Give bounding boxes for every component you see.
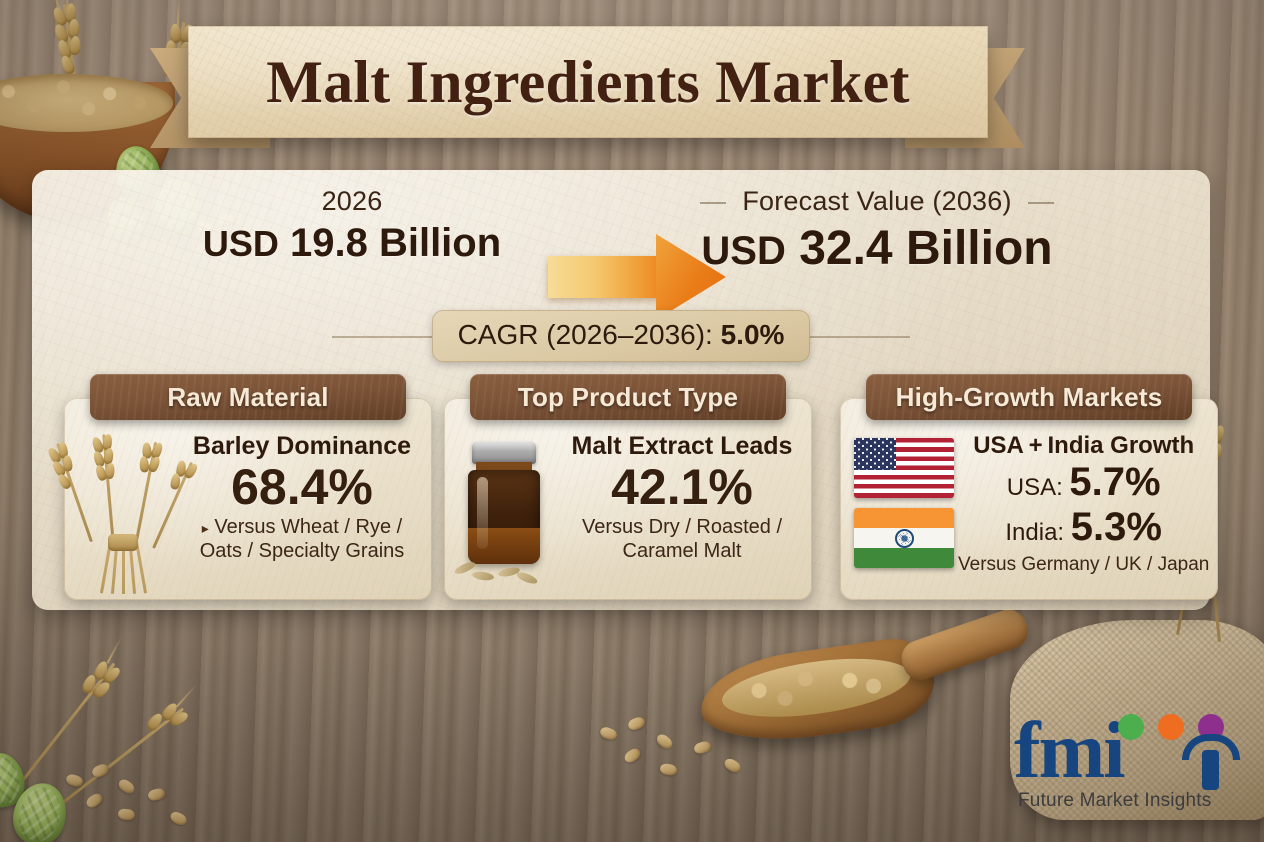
forecast-currency: USD [701, 229, 785, 273]
row-usa-label: USA: [1007, 474, 1070, 501]
row-india-value: 5.3% [1071, 505, 1162, 549]
row-usa-growth: USA: 5.7% [958, 460, 1209, 505]
card-raw-material[interactable]: Raw Material [64, 398, 432, 600]
row-india-label: India: [1005, 519, 1070, 546]
card-top-product-type-note-line2: Caramel Malt [623, 540, 742, 562]
wheat-sheaf-icon [64, 432, 184, 594]
card-high-growth-markets-heading: High-Growth Markets [866, 374, 1192, 420]
usa-flag-icon [854, 438, 954, 498]
market-flags [840, 432, 958, 594]
card-raw-material-metric-title: Barley Dominance [184, 432, 420, 461]
card-top-product-type[interactable]: Top Product Type [444, 398, 812, 600]
infographic-canvas: Malt Ingredients Market 2026 USD 19.8 Bi… [0, 0, 1264, 842]
stat-cards: Raw Material [32, 370, 1210, 600]
forecast-number: 32.4 Billion [799, 222, 1052, 275]
row-usa-value: 5.7% [1069, 460, 1160, 504]
fmi-wordmark: fmi [1014, 712, 1124, 790]
malt-extract-jar-icon [444, 432, 564, 594]
forecast-label: Forecast Value (2036) [706, 186, 1047, 217]
logo-person-icon [1182, 734, 1240, 788]
main-panel: 2026 USD 19.8 Billion Forecast Value (20… [32, 170, 1210, 610]
logo-dot-orange-icon [1158, 714, 1184, 740]
base-year-label: 2026 [172, 186, 532, 217]
cagr-value: 5.0% [721, 319, 785, 350]
cagr-row: CAGR (2026–2036): 5.0% [32, 310, 1210, 362]
fmi-tagline: Future Market Insights [1018, 790, 1240, 812]
note-bullet-icon: ▸ [202, 520, 209, 536]
title-ribbon: Malt Ingredients Market [150, 26, 1025, 154]
card-raw-material-heading: Raw Material [90, 374, 406, 420]
ribbon-banner: Malt Ingredients Market [188, 26, 988, 138]
card-raw-material-note: ▸ Versus Wheat / Rye / Oats / Specialty … [184, 515, 420, 564]
card-top-product-type-heading: Top Product Type [470, 374, 786, 420]
card-top-product-type-note-line1: Versus Dry / Roasted / [582, 516, 782, 538]
card-top-product-type-note: Versus Dry / Roasted / Caramel Malt [564, 515, 800, 564]
card-high-growth-markets[interactable]: High-Growth Markets USA + India Growth U… [840, 398, 1218, 600]
card-top-product-type-metric-title: Malt Extract Leads [564, 432, 800, 461]
card-high-growth-markets-note: Versus Germany / UK / Japan [958, 554, 1209, 576]
page-title: Malt Ingredients Market [188, 26, 988, 138]
card-high-growth-markets-metric-title: USA + India Growth [958, 432, 1209, 460]
base-year-currency: USD [203, 223, 279, 264]
base-year-number: 19.8 Billion [290, 221, 501, 265]
fmi-logo[interactable]: fmi Future Market Insights [1014, 710, 1240, 822]
forecast-value-block: Forecast Value (2036) USD 32.4 Billion [662, 186, 1092, 276]
india-flag-icon [854, 508, 954, 568]
cagr-badge: CAGR (2026–2036): 5.0% [432, 310, 811, 362]
card-raw-material-metric-value: 68.4% [184, 461, 420, 513]
logo-dot-green-icon [1118, 714, 1144, 740]
base-year-amount: USD 19.8 Billion [172, 221, 532, 266]
card-top-product-type-metric-value: 42.1% [564, 461, 800, 513]
row-india-growth: India: 5.3% [958, 505, 1209, 550]
base-year-value-block: 2026 USD 19.8 Billion [172, 186, 532, 266]
forecast-amount: USD 32.4 Billion [662, 221, 1092, 276]
card-raw-material-note-line1: Versus Wheat / Rye / [214, 516, 402, 538]
market-value-row: 2026 USD 19.8 Billion Forecast Value (20… [32, 186, 1210, 316]
card-raw-material-note-line2: Oats / Specialty Grains [200, 540, 405, 562]
cagr-label: CAGR (2026–2036): [458, 319, 721, 350]
